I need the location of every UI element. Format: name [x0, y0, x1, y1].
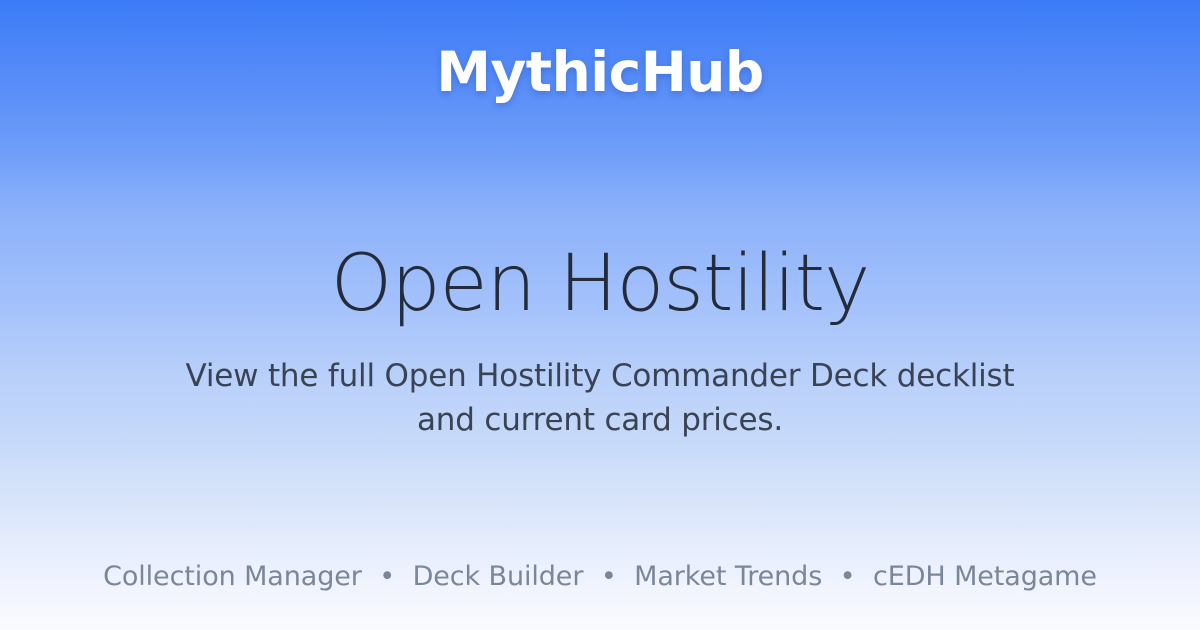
bullet-separator-icon: • — [831, 561, 865, 592]
footer-item-deck-builder: Deck Builder — [413, 561, 584, 592]
bullet-separator-icon: • — [370, 561, 404, 592]
bullet-separator-icon: • — [592, 561, 626, 592]
page-title: Open Hostility — [0, 241, 1200, 328]
brand-title: MythicHub — [0, 44, 1200, 102]
page-subtitle-line-2: and current card prices. — [0, 398, 1200, 442]
footer-item-market-trends: Market Trends — [634, 561, 822, 592]
footer-item-cedh-metagame: cEDH Metagame — [873, 561, 1097, 592]
og-preview-card: MythicHub Open Hostility View the full O… — [0, 0, 1200, 630]
hero-section: Open Hostility View the full Open Hostil… — [0, 241, 1200, 442]
footer-item-collection-manager: Collection Manager — [103, 561, 362, 592]
footer-feature-list: Collection Manager • Deck Builder • Mark… — [0, 559, 1200, 594]
page-subtitle: View the full Open Hostility Commander D… — [0, 354, 1200, 442]
page-subtitle-line-1: View the full Open Hostility Commander D… — [0, 354, 1200, 398]
